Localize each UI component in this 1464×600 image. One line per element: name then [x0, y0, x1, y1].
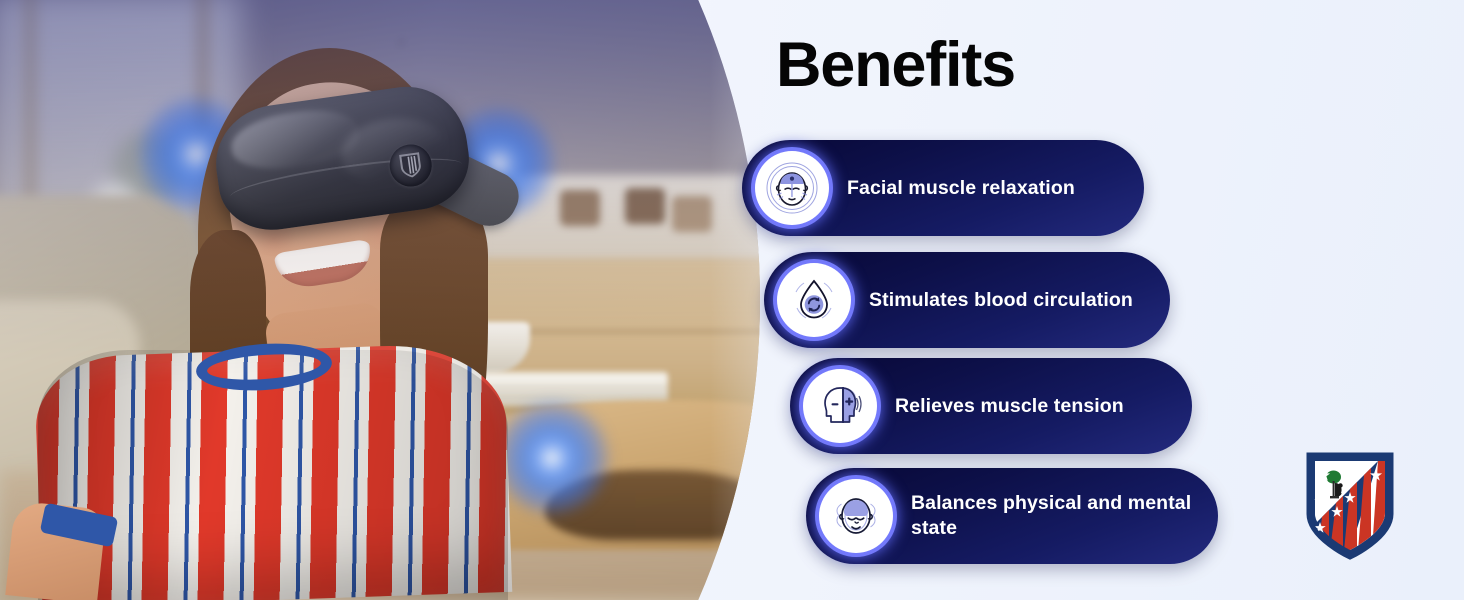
calm-face-waves-icon — [819, 479, 893, 553]
shelf-jar — [672, 196, 712, 232]
acupressure-face-icon — [755, 151, 829, 225]
benefit-label: Stimulates blood circulation — [869, 288, 1133, 313]
water-drop-circulation-icon — [777, 263, 851, 337]
benefit-pill-balances-physical-mental-state[interactable]: Balances physical and mental state — [806, 468, 1218, 564]
benefit-label: Relieves muscle tension — [895, 394, 1124, 419]
benefits-banner: Benefits — [0, 0, 1464, 600]
device-crest-icon — [398, 151, 423, 180]
benefit-label: Facial muscle relaxation — [847, 176, 1075, 201]
device-highlight — [228, 104, 362, 175]
split-head-plus-minus-icon — [803, 369, 877, 443]
benefit-pill-stimulates-blood-circulation[interactable]: Stimulates blood circulation — [764, 252, 1170, 348]
page-title: Benefits — [776, 34, 1015, 97]
benefit-pill-relieves-muscle-tension[interactable]: Relieves muscle tension — [790, 358, 1192, 454]
benefit-pill-facial-muscle-relaxation[interactable]: Facial muscle relaxation — [742, 140, 1144, 236]
shelf-jar — [625, 188, 665, 224]
product-lifestyle-photo — [0, 0, 820, 600]
club-crest — [1306, 452, 1394, 560]
benefit-label: Balances physical and mental state — [911, 491, 1218, 541]
shelf-jar — [560, 190, 600, 226]
photo-scene — [0, 0, 820, 600]
